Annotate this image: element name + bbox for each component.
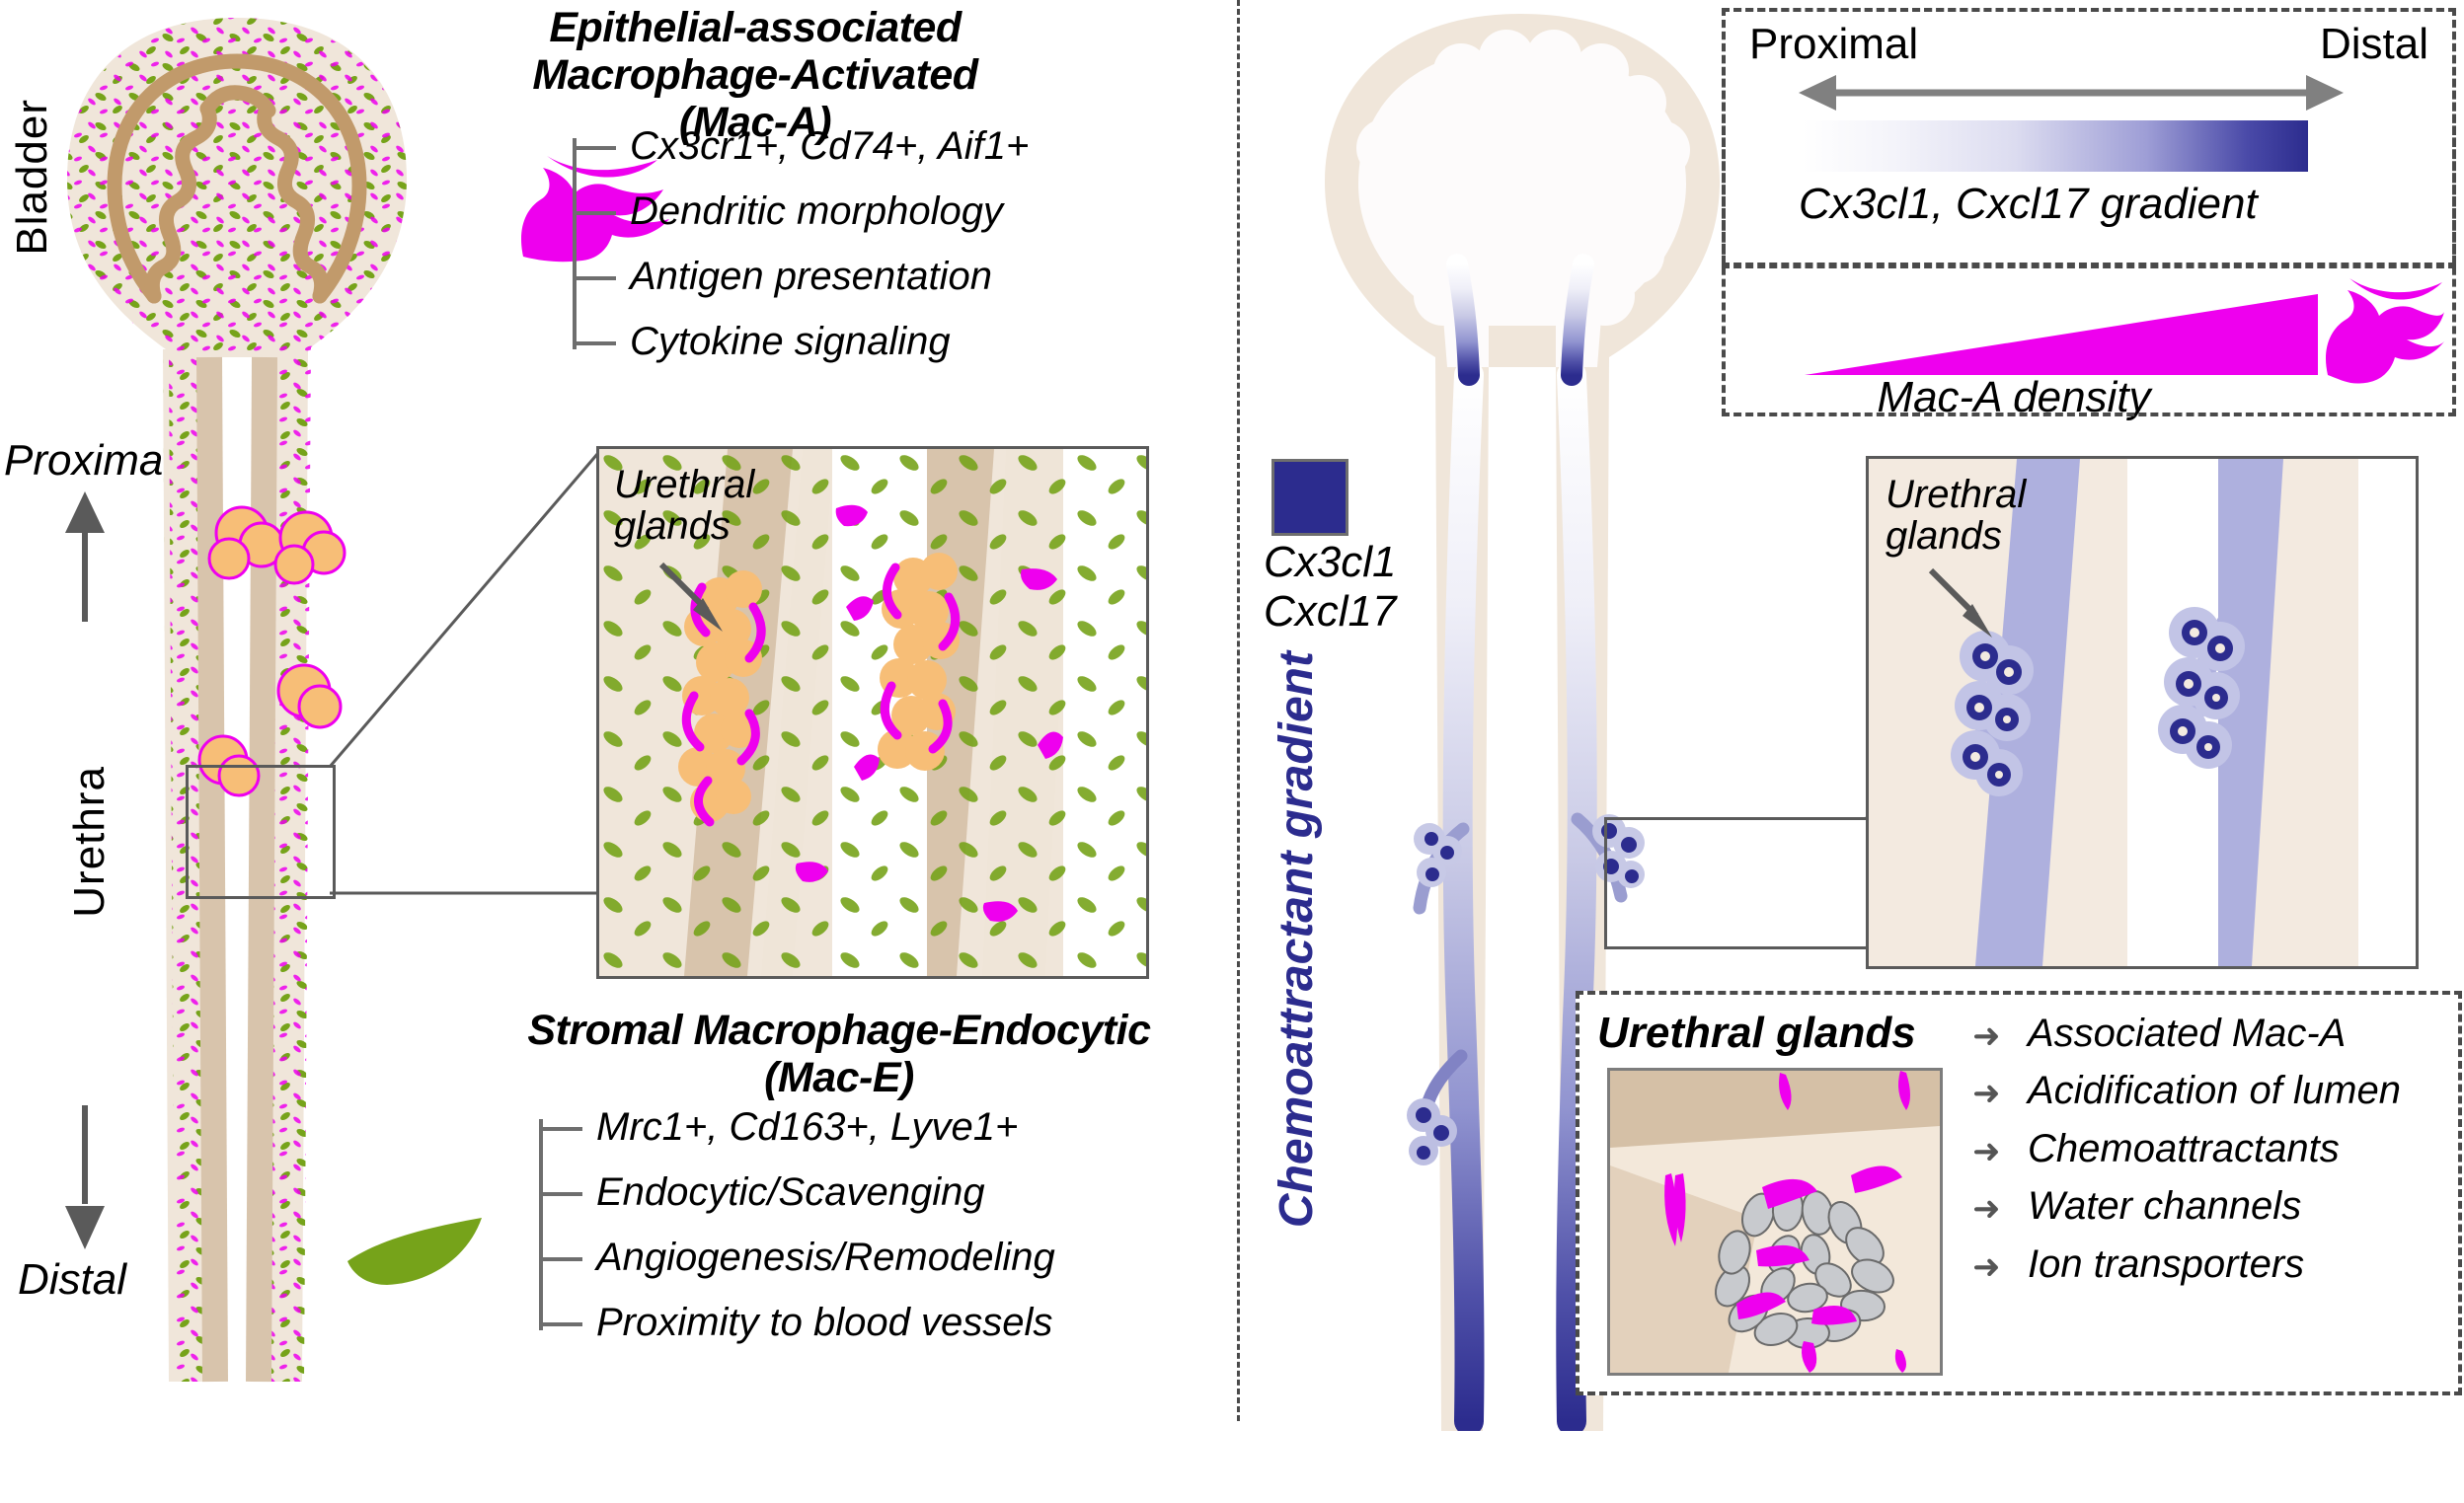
right-urethra-zoom-region <box>1604 817 1872 949</box>
mac-a-feature-2: Antigen presentation <box>630 257 1029 296</box>
macrophage-mac-e-icon <box>344 1202 492 1301</box>
glands-feature-1: ➜Acidification of lumen <box>1972 1070 2446 1111</box>
arrow-icon: ➜ <box>1972 1249 2001 1285</box>
macrophage-density-icon <box>2320 272 2448 393</box>
mac-a-feature-list: Cx3cr1+, Cd74+, Aif1+ Dendritic morpholo… <box>573 126 1029 361</box>
gradient-caption: Cx3cl1, Cxcl17 gradient <box>1799 180 2258 229</box>
right-inset-glands-label-line2: glands <box>1886 515 2103 557</box>
legend-proximal-label: Proximal <box>1749 20 1918 69</box>
mac-e-feature-2: Angiogenesis/Remodeling <box>596 1238 1055 1277</box>
mac-e-feature-0: Mrc1+, Cd163+, Lyve1+ <box>596 1107 1055 1147</box>
density-caption: Mac-A density <box>1767 373 2261 422</box>
label-bladder: Bladder <box>8 99 57 256</box>
glands-feature-3-text: Water channels <box>2028 1184 2301 1228</box>
mac-e-title-line1: Stromal Macrophage-Endocytic <box>449 1007 1229 1054</box>
glands-feature-3: ➜Water channels <box>1972 1185 2446 1227</box>
arrow-icon: ➜ <box>1972 1134 2001 1169</box>
glands-feature-4: ➜Ion transporters <box>1972 1243 2446 1285</box>
right-inset-glands-label: Urethral glands <box>1886 474 2103 557</box>
right-inset-gland-cluster-1 <box>1951 631 2034 796</box>
mac-e-feature-list: Mrc1+, Cd163+, Lyve1+ Endocytic/Scavengi… <box>539 1107 1055 1342</box>
glands-feature-2: ➜Chemoattractants <box>1972 1128 2446 1169</box>
glands-feature-1-text: Acidification of lumen <box>2028 1069 2401 1112</box>
mac-a-feature-1: Dendritic morphology <box>630 191 1029 231</box>
left-inset-glands-arrow-icon <box>652 559 740 647</box>
chemoattractant-gradient-bar <box>1803 120 2308 172</box>
urethral-gland-micrograph-art <box>1610 1071 1940 1373</box>
right-inset-glands-arrow-icon <box>1921 564 2010 653</box>
left-urethra-zoom-region <box>186 765 336 899</box>
right-inset-glands-label-line1: Urethral <box>1886 474 2103 515</box>
left-inset-glands-label: Urethral glands <box>614 464 831 547</box>
mac-a-title-line1: Epithelial-associated <box>474 4 1037 51</box>
glands-feature-0: ➜Associated Mac-A <box>1972 1013 2446 1054</box>
arrow-icon: ➜ <box>1972 1191 2001 1227</box>
left-inset-glands-label-line2: glands <box>614 505 831 547</box>
panel-divider <box>1237 0 1240 1421</box>
mac-e-bracket <box>539 1119 588 1330</box>
left-inset-glands-label-line1: Urethral <box>614 464 831 505</box>
mac-e-feature-3: Proximity to blood vessels <box>596 1303 1055 1342</box>
right-inset-gland-cluster-2 <box>2158 607 2245 769</box>
glands-feature-0-text: Associated Mac-A <box>2028 1012 2346 1055</box>
mac-e-title: Stromal Macrophage-Endocytic (Mac-E) <box>449 1007 1229 1101</box>
mac-a-feature-3: Cytokine signaling <box>630 322 1029 361</box>
arrow-icon: ➜ <box>1972 1076 2001 1111</box>
mac-e-title-line2: (Mac-E) <box>449 1054 1229 1101</box>
urethral-glands-box: Urethral glands <box>1576 991 2462 1395</box>
mac-e-feature-1: Endocytic/Scavenging <box>596 1172 1055 1212</box>
gradient-legend-box: Proximal Distal Cx3cl1, Cxcl17 gradient <box>1722 8 2456 266</box>
mac-a-feature-0: Cx3cr1+, Cd74+, Aif1+ <box>630 126 1029 166</box>
glands-feature-4-text: Ion transporters <box>2028 1242 2304 1286</box>
legend-distal-label: Distal <box>2320 20 2428 69</box>
left-inset-leader-lines <box>326 449 602 923</box>
urethral-gland-micrograph <box>1607 1068 1943 1376</box>
arrow-icon: ➜ <box>1972 1018 2001 1054</box>
urethral-glands-box-title: Urethral glands <box>1597 1009 1916 1058</box>
urethral-glands-feature-list: ➜Associated Mac-A ➜Acidification of lume… <box>1972 1013 2446 1301</box>
glands-feature-2-text: Chemoattractants <box>2028 1127 2340 1170</box>
legend-double-arrow-icon <box>1795 73 2348 113</box>
mac-a-bracket <box>573 138 622 349</box>
